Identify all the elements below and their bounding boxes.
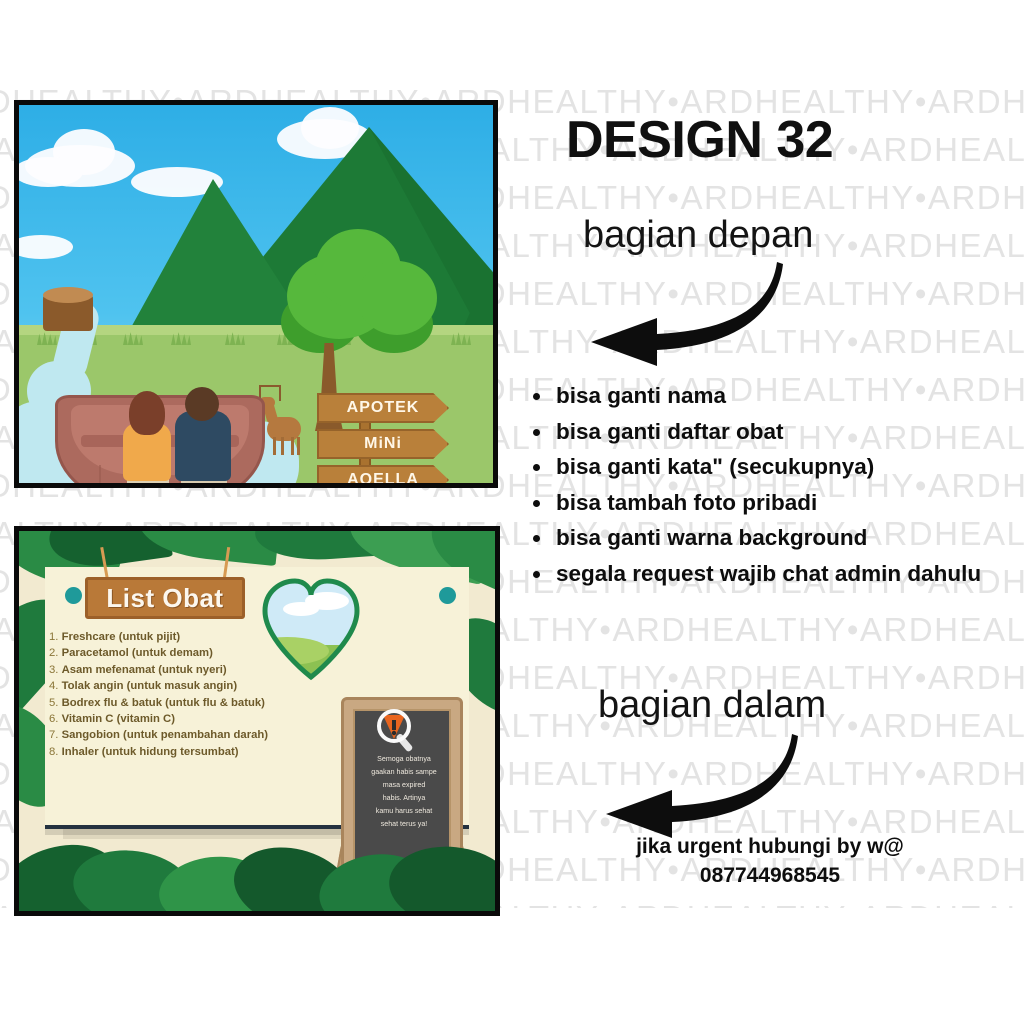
deer-leg — [281, 437, 284, 455]
deer-leg — [291, 437, 294, 455]
medicine-list: 1. Freshcare (untuk pijit)2. Paracetamol… — [49, 629, 349, 760]
signpost-aqella: AQELLA — [317, 465, 449, 488]
warning-magnifier-icon — [375, 709, 419, 753]
deer-leg — [297, 437, 300, 455]
medicine-item: 3. Asam mefenamat (untuk nyeri) — [49, 662, 349, 678]
chalkboard-message: Semoga obatnyagaakan habis sampemasa exp… — [351, 753, 457, 831]
inside-design-photo[interactable]: List Obat 1. Freshca — [14, 526, 500, 916]
page-title: DESIGN 32 — [566, 110, 833, 170]
cloud-icon — [14, 157, 83, 187]
medicine-number: 5. — [49, 697, 62, 709]
contact-block: jika urgent hubungi by w@ 087744968545 — [516, 832, 1024, 890]
features-list: bisa ganti namabisa ganti daftar obatbis… — [516, 378, 1024, 591]
pin-right — [439, 587, 456, 604]
medicine-number: 3. — [49, 664, 62, 676]
medicine-number: 6. — [49, 713, 62, 725]
chalkboard-line: kamu harus sehat — [351, 805, 457, 818]
arrow-to-inside-icon — [580, 730, 800, 840]
medicine-item: 6. Vitamin C (vitamin C) — [49, 711, 349, 727]
pin-left — [65, 587, 82, 604]
person-woman-hair — [129, 391, 165, 435]
person-man-hair — [185, 387, 219, 421]
front-design-photo[interactable]: APOTEK MiNi AQELLA — [14, 100, 498, 488]
signpost-aqella-label: AQELLA — [319, 467, 447, 488]
medicine-item: 7. Sangobion (untuk penambahan darah) — [49, 727, 349, 743]
chalkboard-line: Semoga obatnya — [351, 753, 457, 766]
medicine-item: 4. Tolak angin (untuk masuk angin) — [49, 678, 349, 694]
person-man-body — [175, 411, 231, 481]
medicine-item: 8. Inhaler (untuk hidung tersumbat) — [49, 744, 349, 760]
cloud-icon — [301, 107, 359, 149]
medicine-number: 2. — [49, 647, 62, 659]
chalkboard-line: masa expired — [351, 779, 457, 792]
medicine-item: 2. Paracetamol (untuk demam) — [49, 645, 349, 661]
list-obat-sign: List Obat — [85, 577, 245, 619]
boat-rib — [99, 465, 101, 488]
label-bagian-dalam: bagian dalam — [598, 684, 826, 727]
deer-leg — [273, 437, 276, 455]
medicine-number: 8. — [49, 746, 62, 758]
medicine-number: 4. — [49, 680, 62, 692]
medicine-number: 7. — [49, 729, 62, 741]
feature-item: bisa tambah foto pribadi — [516, 485, 1024, 521]
chalkboard-line: habis. Artinya — [351, 792, 457, 805]
feature-item: bisa ganti nama — [516, 378, 1024, 414]
feature-item: bisa ganti kata" (secukupnya) — [516, 449, 1024, 485]
feature-item: bisa ganti daftar obat — [516, 414, 1024, 450]
signpost-apotek-label: APOTEK — [319, 395, 447, 421]
tree-stump-top — [43, 287, 93, 303]
signpost-mini: MiNi — [317, 429, 449, 459]
poster-page: ARDHEALTHY•ARDHEALTHY•ARDHEALTHY•ARDHEAL… — [0, 0, 1024, 1024]
arrow-to-front-icon — [565, 258, 785, 368]
medicine-item: 1. Freshcare (untuk pijit) — [49, 629, 349, 645]
medicine-item: 5. Bodrex flu & batuk (untuk flu & batuk… — [49, 695, 349, 711]
list-obat-title: List Obat — [106, 583, 223, 614]
contact-line-2: 087744968545 — [516, 861, 1024, 890]
tree-icon — [357, 261, 437, 335]
chalkboard-line: sehat terus ya! — [351, 818, 457, 831]
signpost-apotek: APOTEK — [317, 393, 449, 423]
medicine-number: 1. — [49, 631, 62, 643]
signpost-mini-label: MiNi — [319, 431, 447, 457]
feature-item: segala request wajib chat admin dahulu — [516, 556, 1024, 592]
chalkboard-line: gaakan habis sampe — [351, 766, 457, 779]
label-bagian-depan: bagian depan — [583, 214, 813, 257]
feature-item: bisa ganti warna background — [516, 520, 1024, 556]
contact-line-1: jika urgent hubungi by w@ — [516, 832, 1024, 861]
